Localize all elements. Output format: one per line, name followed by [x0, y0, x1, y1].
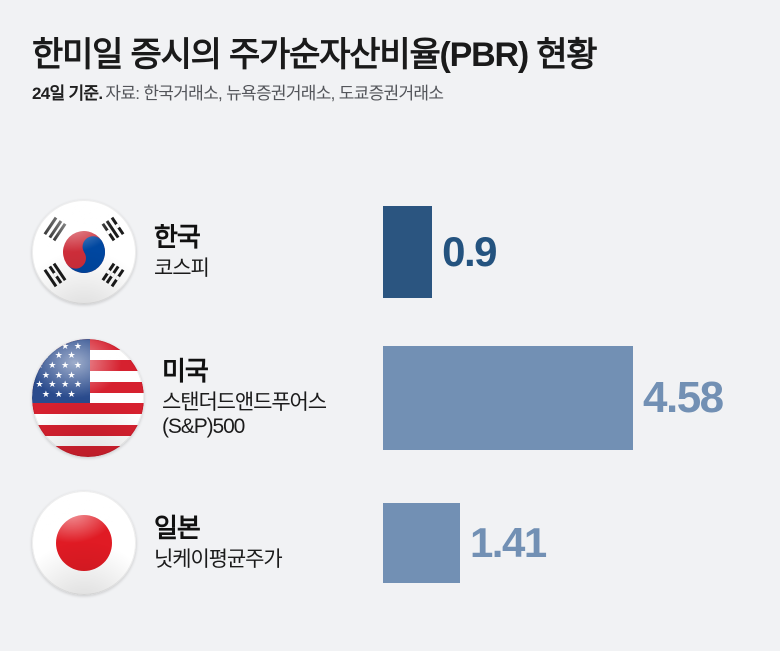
trigram-gon-icon — [102, 263, 125, 287]
trigram-gam-icon — [102, 217, 125, 241]
bar-value-usa: 4.58 — [643, 376, 723, 420]
index-name-japan: 닛케이평균주가 — [154, 548, 366, 572]
chart-header: 한미일 증시의 주가순자산비율(PBR) 현황 24일 기준.자료: 한국거래소… — [0, 0, 780, 104]
flag-korea-icon — [32, 200, 136, 304]
row-labels-usa: 미국 스탠더드앤드푸어스(S&P)500 — [162, 357, 374, 440]
bar-area-usa: 4.58 — [383, 318, 723, 478]
trigram-geon-icon — [44, 217, 67, 241]
us-canton: ★ ★ ★ ★ ★ ★ ★ ★ ★ ★ ★ ★ ★ ★ ★ ★ ★ — [32, 339, 90, 403]
country-name-usa: 미국 — [162, 357, 374, 387]
flag-usa-icon: ★ ★ ★ ★ ★ ★ ★ ★ ★ ★ ★ ★ ★ ★ ★ ★ ★ — [32, 339, 144, 457]
bar-value-korea: 0.9 — [442, 231, 496, 273]
bar-japan — [383, 503, 460, 583]
index-name-usa: 스탠더드앤드푸어스(S&P)500 — [162, 391, 374, 440]
country-name-korea: 한국 — [154, 223, 366, 253]
chart-subtitle: 24일 기준.자료: 한국거래소, 뉴욕증권거래소, 도쿄증권거래소 — [32, 84, 780, 104]
index-name-korea: 코스피 — [154, 257, 366, 281]
bar-area-japan: 1.41 — [383, 478, 546, 608]
subtitle-basis: 24일 기준. — [32, 84, 102, 103]
page-title: 한미일 증시의 주가순자산비율(PBR) 현황 — [32, 36, 780, 75]
trigram-ri-icon — [44, 263, 67, 287]
bar-value-japan: 1.41 — [470, 522, 546, 564]
bar-usa — [383, 346, 633, 450]
taegeuk-icon — [55, 223, 113, 281]
bar-area-korea: 0.9 — [383, 186, 496, 318]
country-name-japan: 일본 — [154, 514, 366, 544]
chart-row-korea: 한국 코스피 0.9 — [0, 186, 780, 318]
flag-japan-icon — [32, 491, 136, 595]
row-labels-korea: 한국 코스피 — [154, 223, 366, 281]
chart-row-japan: 일본 닛케이평균주가 1.41 — [0, 478, 780, 608]
subtitle-source: 자료: 한국거래소, 뉴욕증권거래소, 도쿄증권거래소 — [105, 84, 443, 103]
bar-korea — [383, 206, 432, 298]
hinomaru-disc — [56, 515, 112, 571]
chart-row-usa: ★ ★ ★ ★ ★ ★ ★ ★ ★ ★ ★ ★ ★ ★ ★ ★ ★ — [0, 318, 780, 478]
row-labels-japan: 일본 닛케이평균주가 — [154, 514, 366, 572]
chart-rows: 한국 코스피 0.9 — [0, 186, 780, 608]
